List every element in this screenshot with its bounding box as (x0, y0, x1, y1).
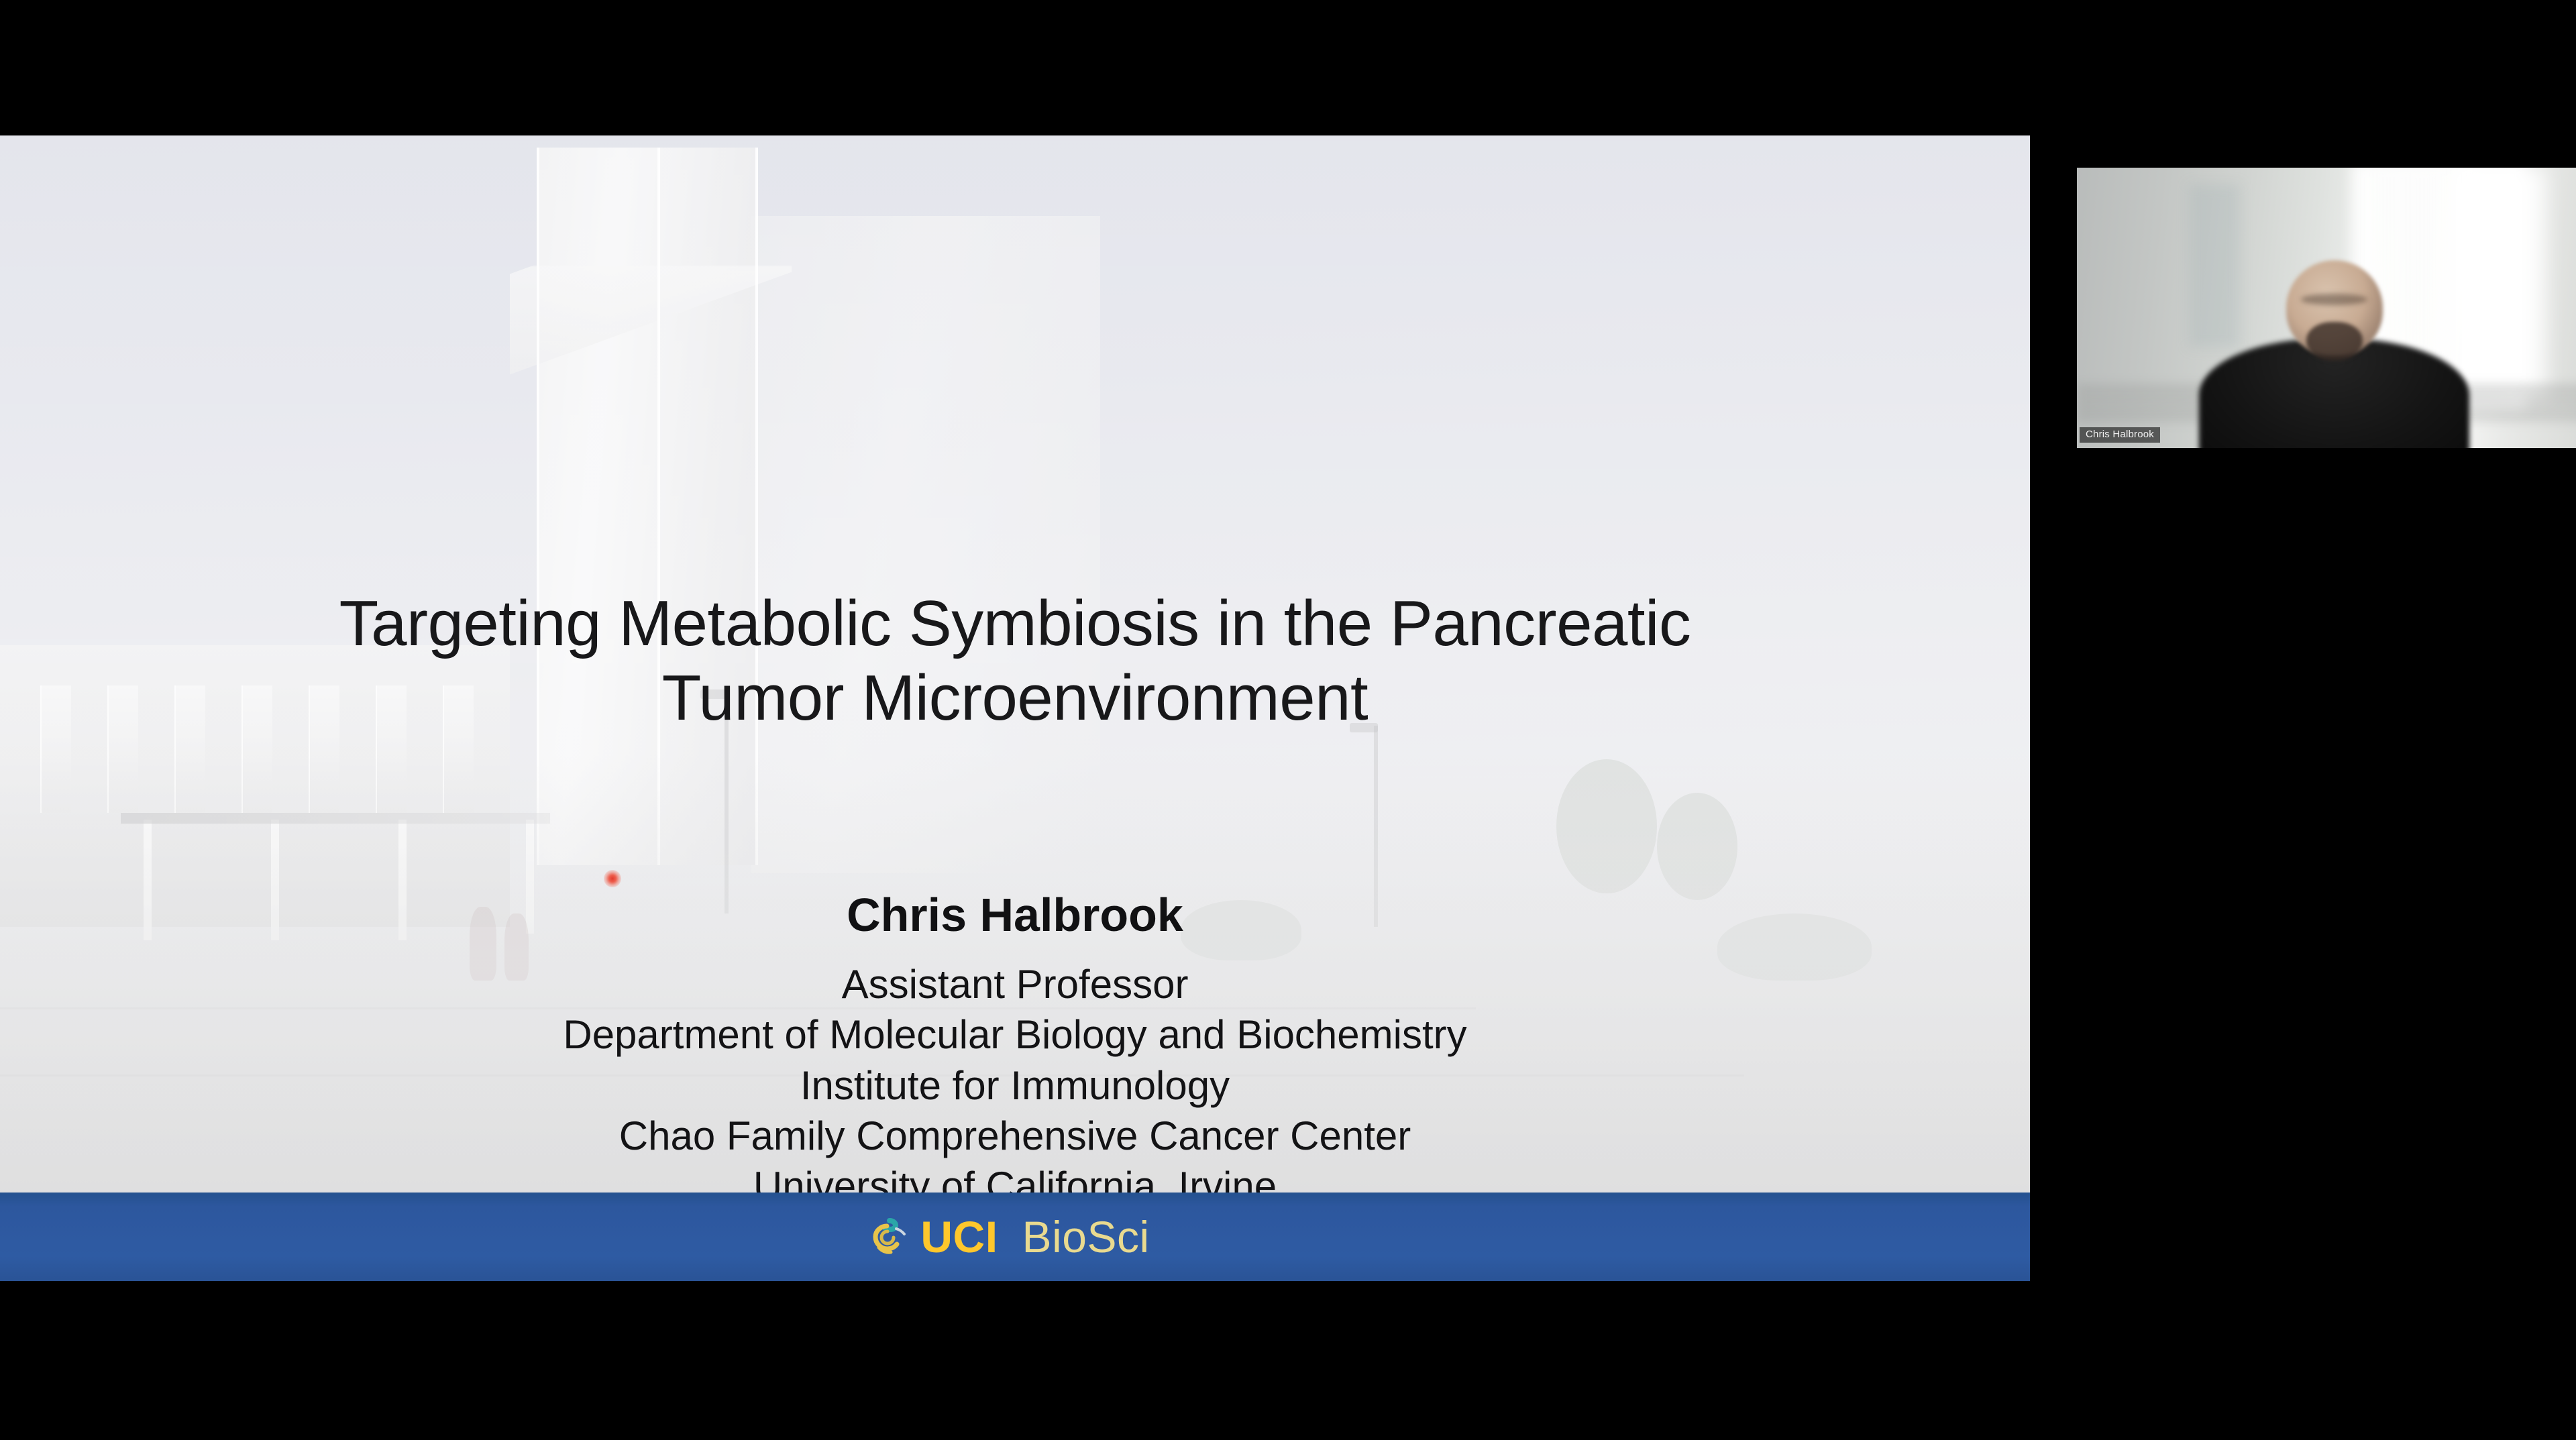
presenter-affiliations: Assistant Professor Department of Molecu… (0, 959, 2030, 1211)
slide-title-line-2: Tumor Microenvironment (0, 661, 2030, 735)
uci-wordmark: UCI (920, 1215, 998, 1259)
slide-title: Targeting Metabolic Symbiosis in the Pan… (0, 586, 2030, 736)
slide-title-line-1: Targeting Metabolic Symbiosis in the Pan… (0, 586, 2030, 661)
affiliation-line: Department of Molecular Biology and Bioc… (0, 1009, 2030, 1060)
slide-footer-band: UCI BioSci (0, 1193, 2030, 1281)
affiliation-line: Institute for Immunology (0, 1060, 2030, 1111)
slide-text-layer: Targeting Metabolic Symbiosis in the Pan… (0, 135, 2030, 1281)
biosci-wordmark: BioSci (1022, 1215, 1150, 1259)
participant-name-label: Chris Halbrook (2080, 427, 2160, 443)
uci-anteater-icon (867, 1218, 907, 1256)
webcam-window-light-secondary (2454, 168, 2546, 398)
webcam-participant-beard (2306, 322, 2363, 362)
webcam-wall-panel (2189, 184, 2240, 347)
affiliation-line: Assistant Professor (0, 959, 2030, 1009)
presenter-name: Chris Halbrook (0, 888, 2030, 942)
participant-video-tile[interactable]: Chris Halbrook (2077, 168, 2576, 448)
webcam-participant-brow (2301, 294, 2367, 305)
screen-share-view: Targeting Metabolic Symbiosis in the Pan… (0, 0, 2576, 1440)
affiliation-line: Chao Family Comprehensive Cancer Center (0, 1111, 2030, 1161)
presentation-slide[interactable]: Targeting Metabolic Symbiosis in the Pan… (0, 135, 2030, 1281)
laser-pointer-dot (604, 870, 621, 887)
